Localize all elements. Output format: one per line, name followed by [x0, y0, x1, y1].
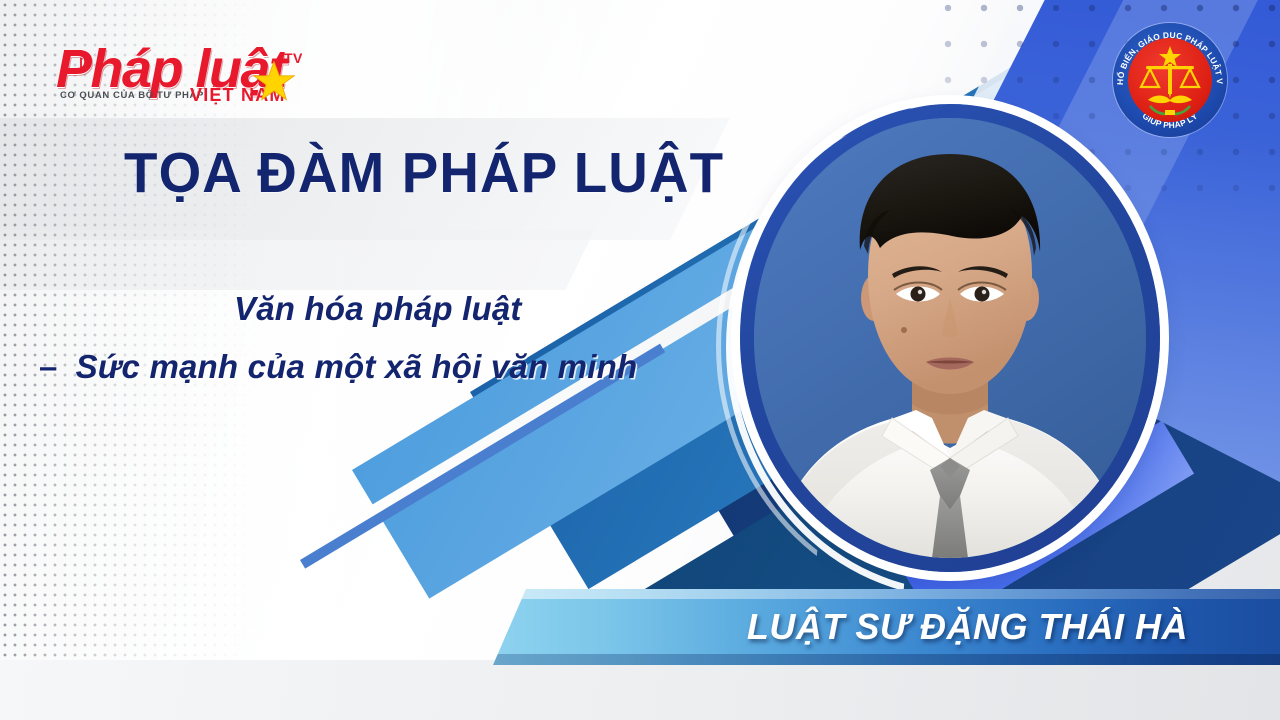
- lower-third-top-sheen: [493, 589, 1280, 599]
- logo-tv-badge: TV: [284, 50, 303, 66]
- bottom-grey-strip: [0, 660, 1280, 720]
- portrait-frame: [754, 118, 1146, 558]
- laurel-icon: [1174, 106, 1190, 114]
- emblem-symbols: [1128, 38, 1212, 122]
- subtitle-line-2: Sức mạnh của một xã hội văn minh: [76, 348, 638, 386]
- channel-logo[interactable]: Pháp luật CƠ QUAN CỦA BỘ TƯ PHÁP VIỆT NA…: [56, 40, 326, 114]
- scales-left-pan-icon: [1141, 69, 1159, 87]
- ministry-emblem: CỤC PHỔ BIẾN, GIÁO DỤC PHÁP LUẬT VÀ TRỢ …: [1113, 23, 1227, 137]
- guest-name: LUẬT SƯ ĐẶNG THÁI HÀ: [747, 606, 1188, 648]
- logo-tagline-left: CƠ QUAN CỦA BỘ TƯ PHÁP: [60, 90, 204, 101]
- subtitle-dash: –: [39, 348, 58, 386]
- subtitle-line-1: Văn hóa pháp luật: [234, 290, 522, 328]
- lower-third-banner: LUẬT SƯ ĐẶNG THÁI HÀ: [493, 589, 1280, 665]
- star-icon: [1159, 46, 1181, 67]
- scales-right-pan-icon: [1181, 69, 1199, 87]
- lower-third-bottom-edge: [493, 654, 1280, 665]
- laurel-icon: [1150, 106, 1166, 114]
- page-title: TỌA ĐÀM PHÁP LUẬT: [124, 140, 724, 206]
- portrait-ring: [740, 104, 1160, 572]
- star-icon: [252, 60, 296, 104]
- guest-portrait-illustration: [754, 118, 1146, 558]
- scales-beam-icon: [1146, 66, 1194, 69]
- broadcast-title-card: Pháp luật CƠ QUAN CỦA BỘ TƯ PHÁP VIỆT NA…: [0, 0, 1280, 720]
- subtitle-line-2-row: – Sức mạnh của một xã hội văn minh: [39, 348, 637, 386]
